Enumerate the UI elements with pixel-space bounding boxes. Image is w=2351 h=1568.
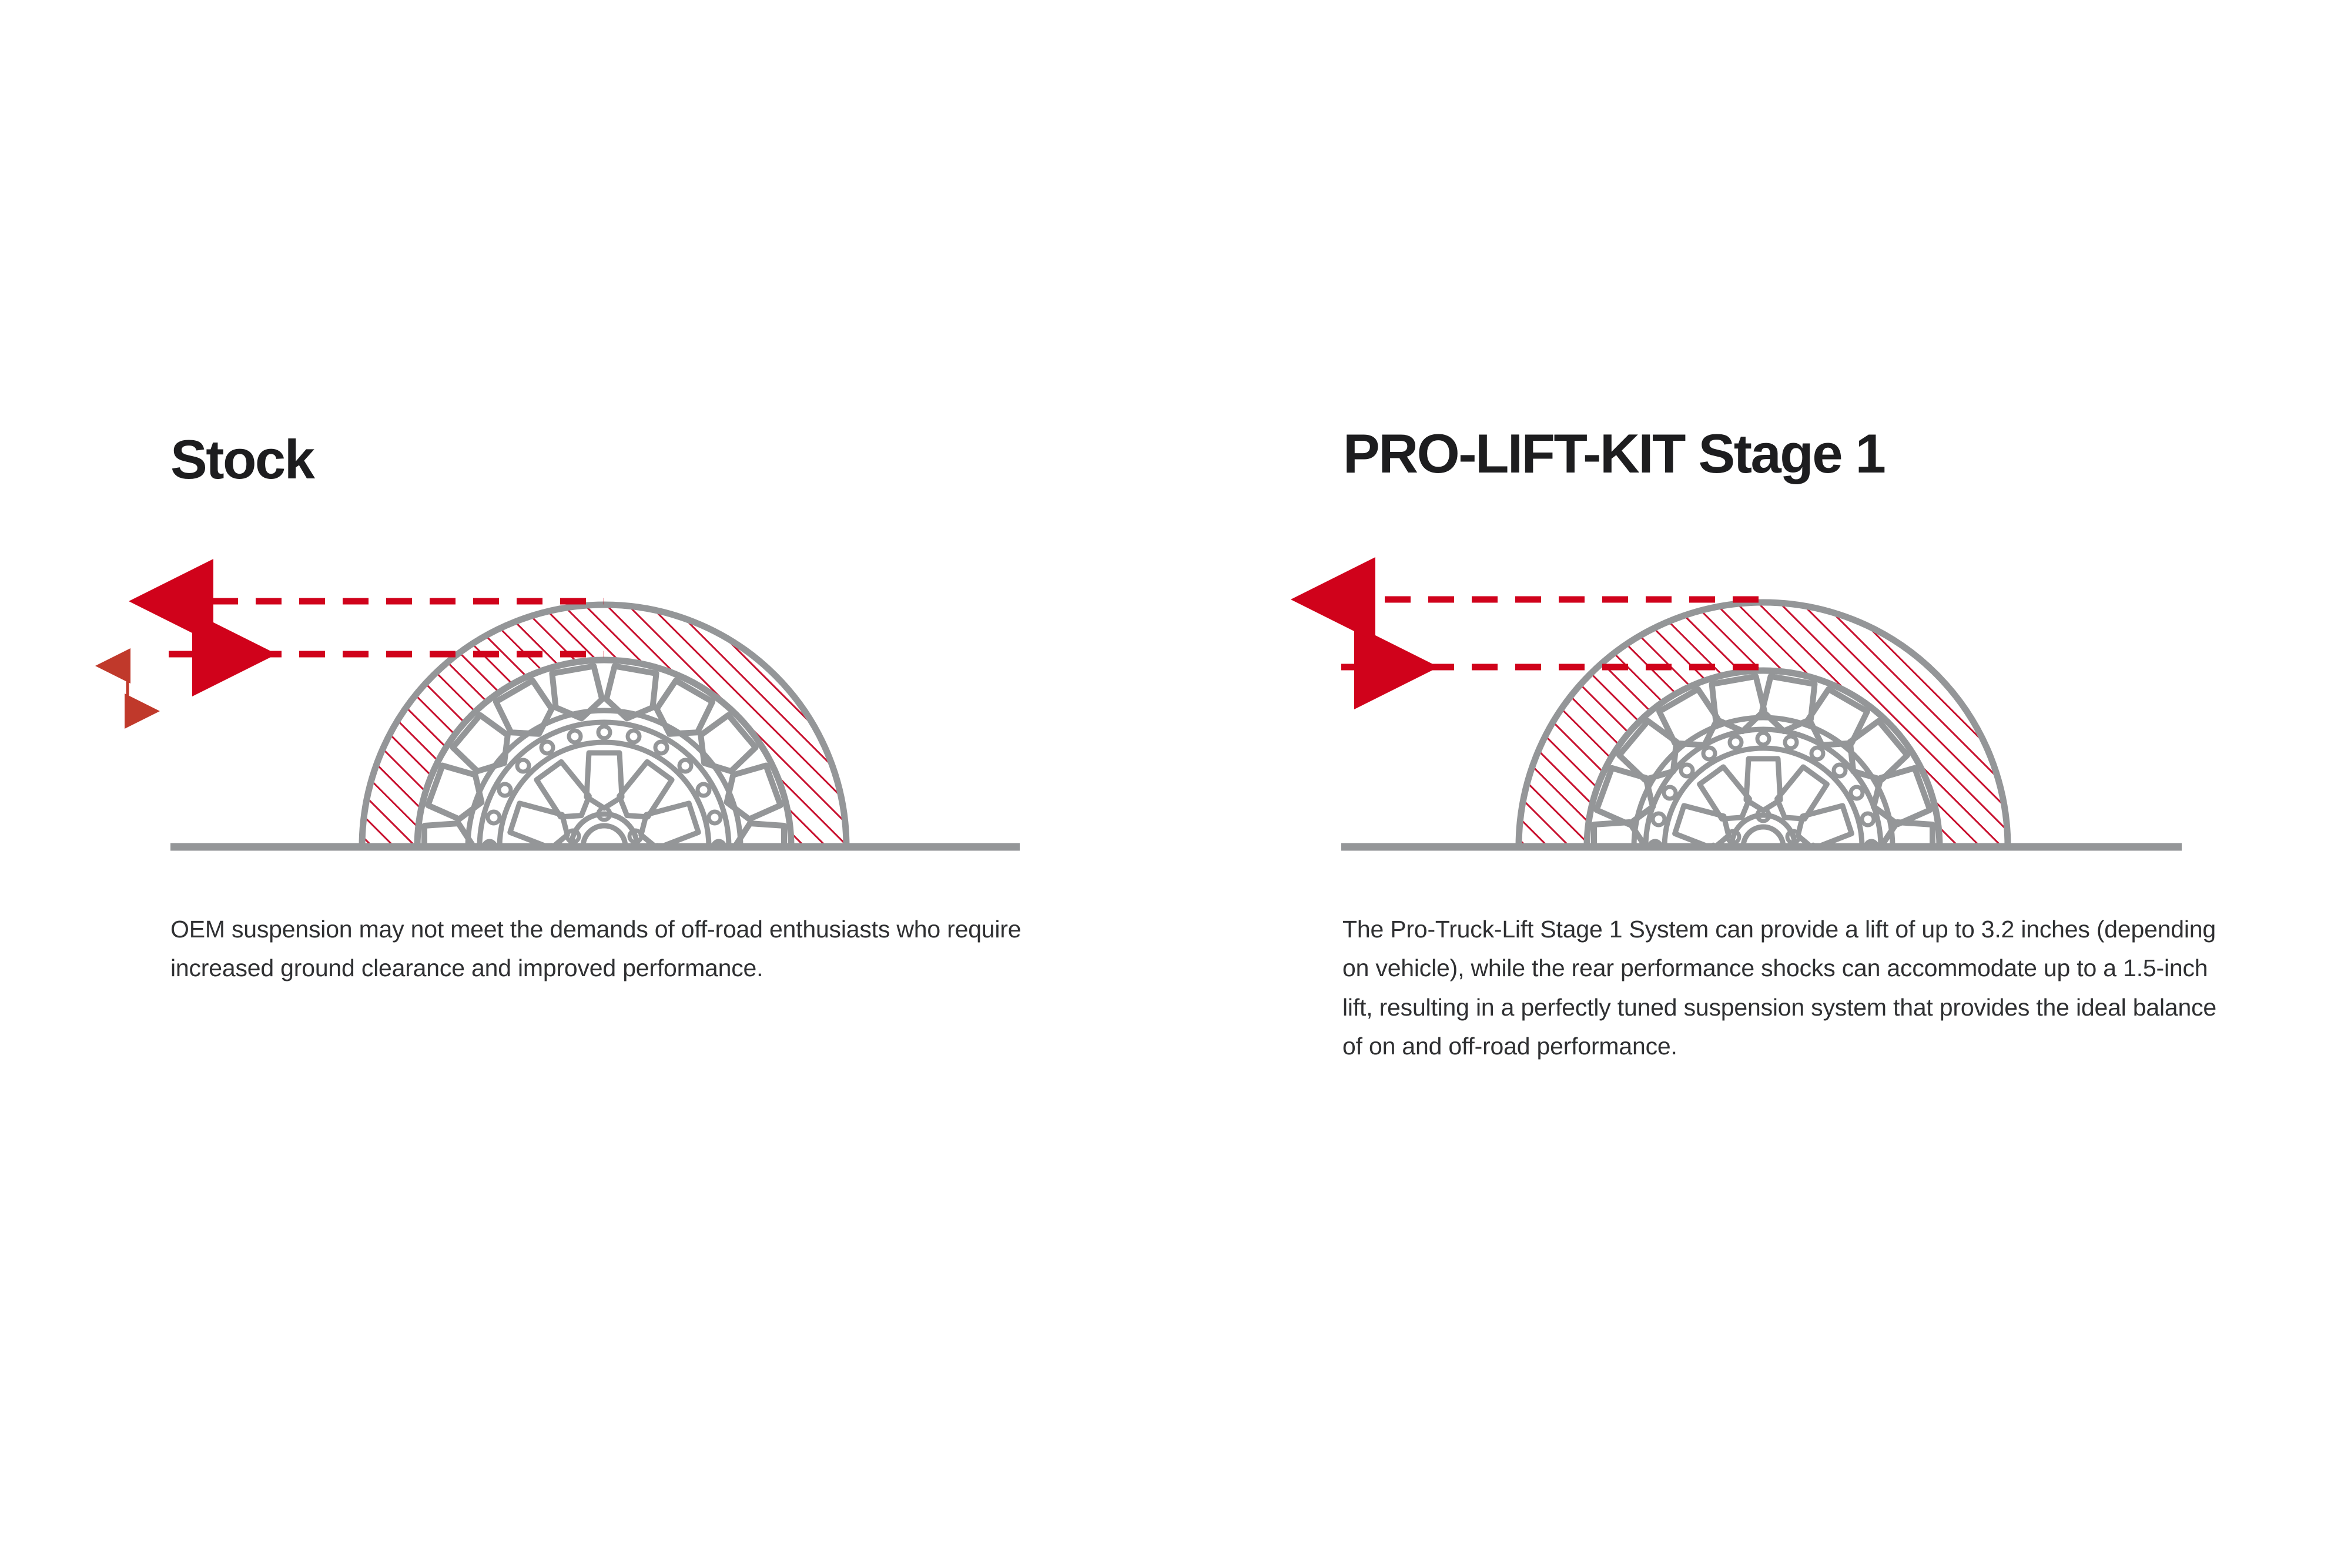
panel-lift-description: The Pro-Truck-Lift Stage 1 System can pr… xyxy=(1342,910,2224,1066)
clearance-reference-lines xyxy=(1341,599,1763,667)
panel-stock: Stock xyxy=(0,0,1175,1568)
panel-stock-description: OEM suspension may not meet the demands … xyxy=(170,910,1052,988)
tire-cross-section-hatch xyxy=(329,564,882,1089)
lifted-wheel-clearance-diagram xyxy=(1175,0,2351,1568)
clearance-reference-lines xyxy=(169,601,604,654)
panel-stock-title: Stock xyxy=(170,432,313,487)
stock-wheel-clearance-diagram xyxy=(0,0,1175,1568)
tire-tread-lugs xyxy=(1594,676,1933,928)
comparison-diagram-stage: Stock xyxy=(0,0,2351,1568)
tire-tread-lugs xyxy=(424,666,784,931)
panel-lift-title: PRO-LIFT-KIT Stage 1 xyxy=(1343,426,1884,481)
panel-lift: PRO-LIFT-KIT Stage 1 xyxy=(1175,0,2351,1568)
